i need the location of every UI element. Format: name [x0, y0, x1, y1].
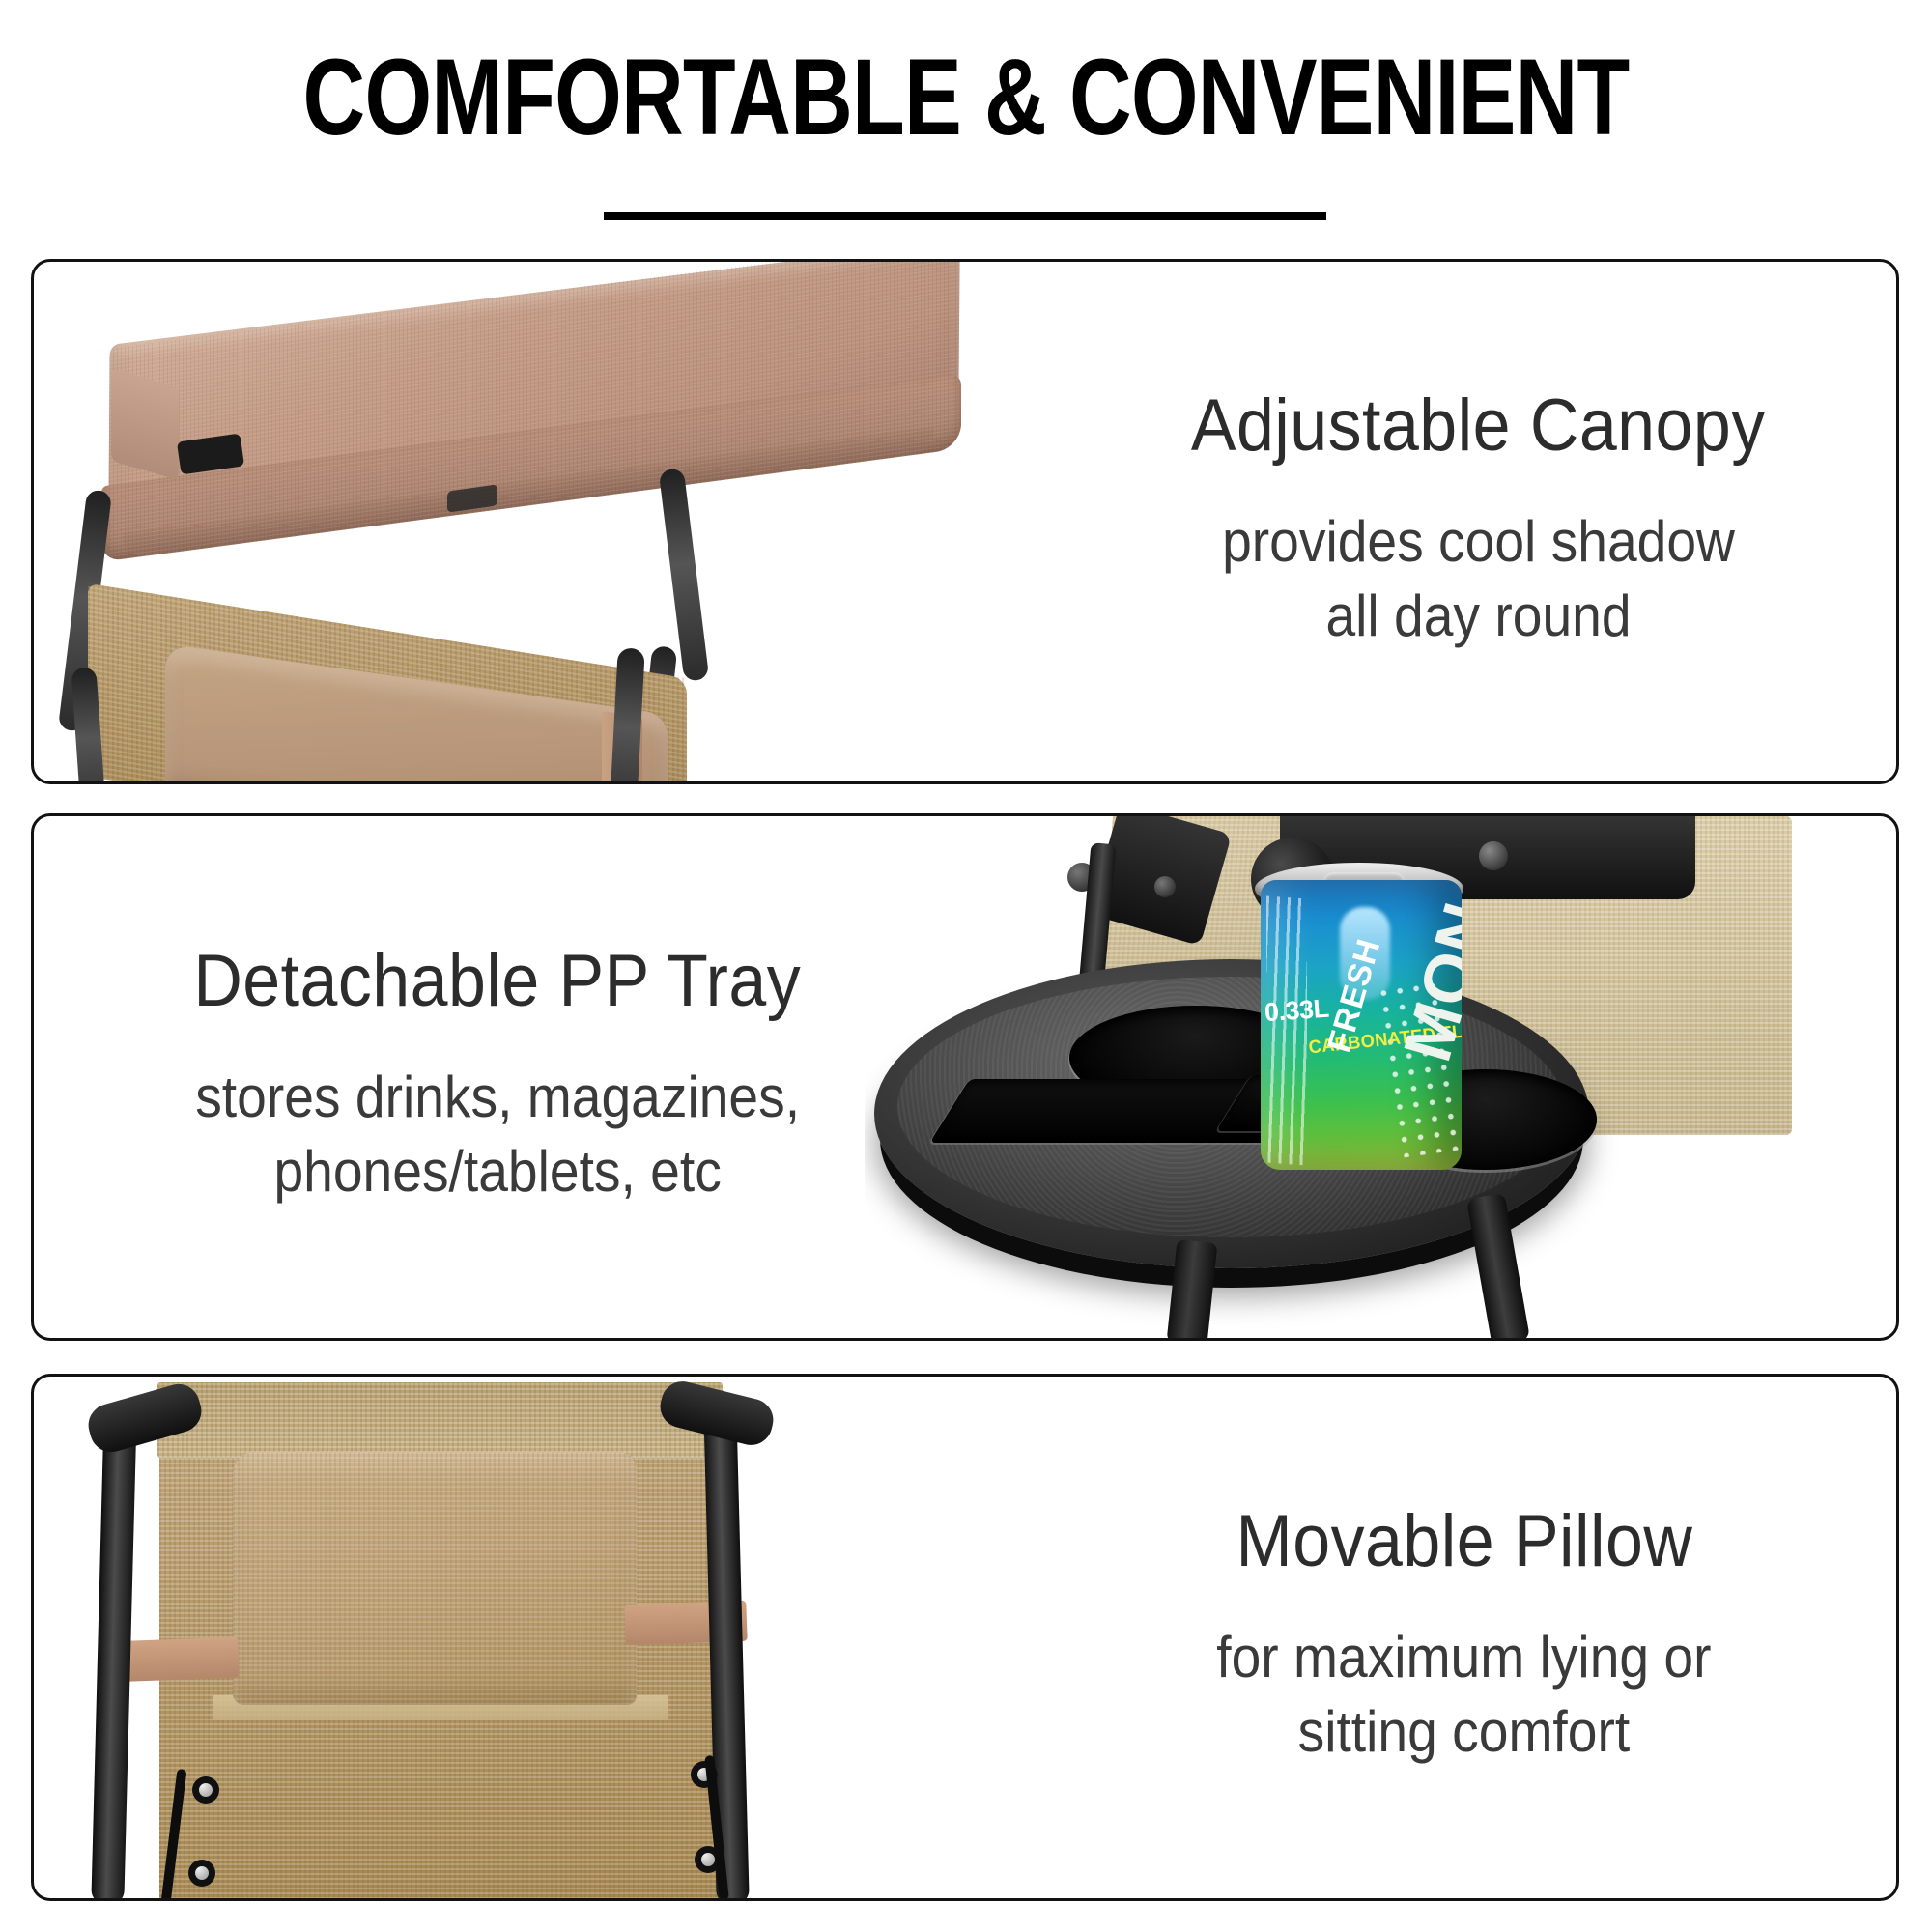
pillow-weave-texture [233, 1452, 637, 1705]
tray-image: 0.33L CARBONATED FLAVOR SOFT DRINK FRESH… [865, 816, 1899, 1338]
title-underline-rule [604, 212, 1326, 220]
feature-description-line: provides cool shadow [1222, 505, 1735, 580]
can-brand-label: MON [1388, 894, 1462, 1069]
grommet-icon [188, 1860, 215, 1887]
grommet-icon [192, 1776, 219, 1804]
header: COMFORTABLE & CONVENIENT [0, 0, 1932, 253]
feature-description-line: all day round [1222, 580, 1735, 654]
feature-panel-movable-pillow: Movable Pillow for maximum lying or sitt… [31, 1374, 1899, 1901]
bolt-icon [1479, 841, 1508, 870]
feature-description-line: stores drinks, magazines, [195, 1061, 800, 1135]
pillow-image [34, 1377, 1029, 1898]
page-title: COMFORTABLE & CONVENIENT [193, 41, 1739, 155]
feature-panel-detachable-pp-tray: Detachable PP Tray stores drinks, magazi… [31, 813, 1899, 1341]
infographic-page: COMFORTABLE & CONVENIENT [0, 0, 1932, 1932]
canopy-end-tab [111, 368, 179, 480]
canopy-image [34, 262, 1058, 781]
feature-title: Detachable PP Tray [194, 945, 802, 1018]
feature-description: for maximum lying or sitting comfort [1216, 1621, 1711, 1770]
feature-description: stores drinks, magazines, phones/tablets… [195, 1061, 800, 1209]
bolt-icon [1154, 876, 1176, 897]
canopy-text-block: Adjustable Canopy provides cool shadow a… [1058, 262, 1899, 781]
feature-title: Adjustable Canopy [1191, 389, 1766, 463]
chair-leg [1466, 1193, 1530, 1338]
can-volume-label: 0.33L [1264, 994, 1330, 1029]
feature-description-line: for maximum lying or [1216, 1621, 1711, 1695]
chair-frame-left [91, 1409, 136, 1898]
pillow-text-block: Movable Pillow for maximum lying or sitt… [1029, 1377, 1899, 1898]
feature-description-line: phones/tablets, etc [195, 1135, 800, 1209]
feature-title: Movable Pillow [1236, 1505, 1692, 1578]
soda-can: 0.33L CARBONATED FLAVOR SOFT DRINK FRESH… [1261, 880, 1462, 1170]
tray-text-block: Detachable PP Tray stores drinks, magazi… [34, 816, 961, 1338]
chair-back-top-hem [157, 1382, 723, 1458]
can-stripe-graphic [1266, 896, 1307, 1166]
feature-description-line: sitting comfort [1216, 1695, 1711, 1770]
feature-description: provides cool shadow all day round [1222, 505, 1735, 654]
feature-panel-adjustable-canopy: Adjustable Canopy provides cool shadow a… [31, 259, 1899, 784]
